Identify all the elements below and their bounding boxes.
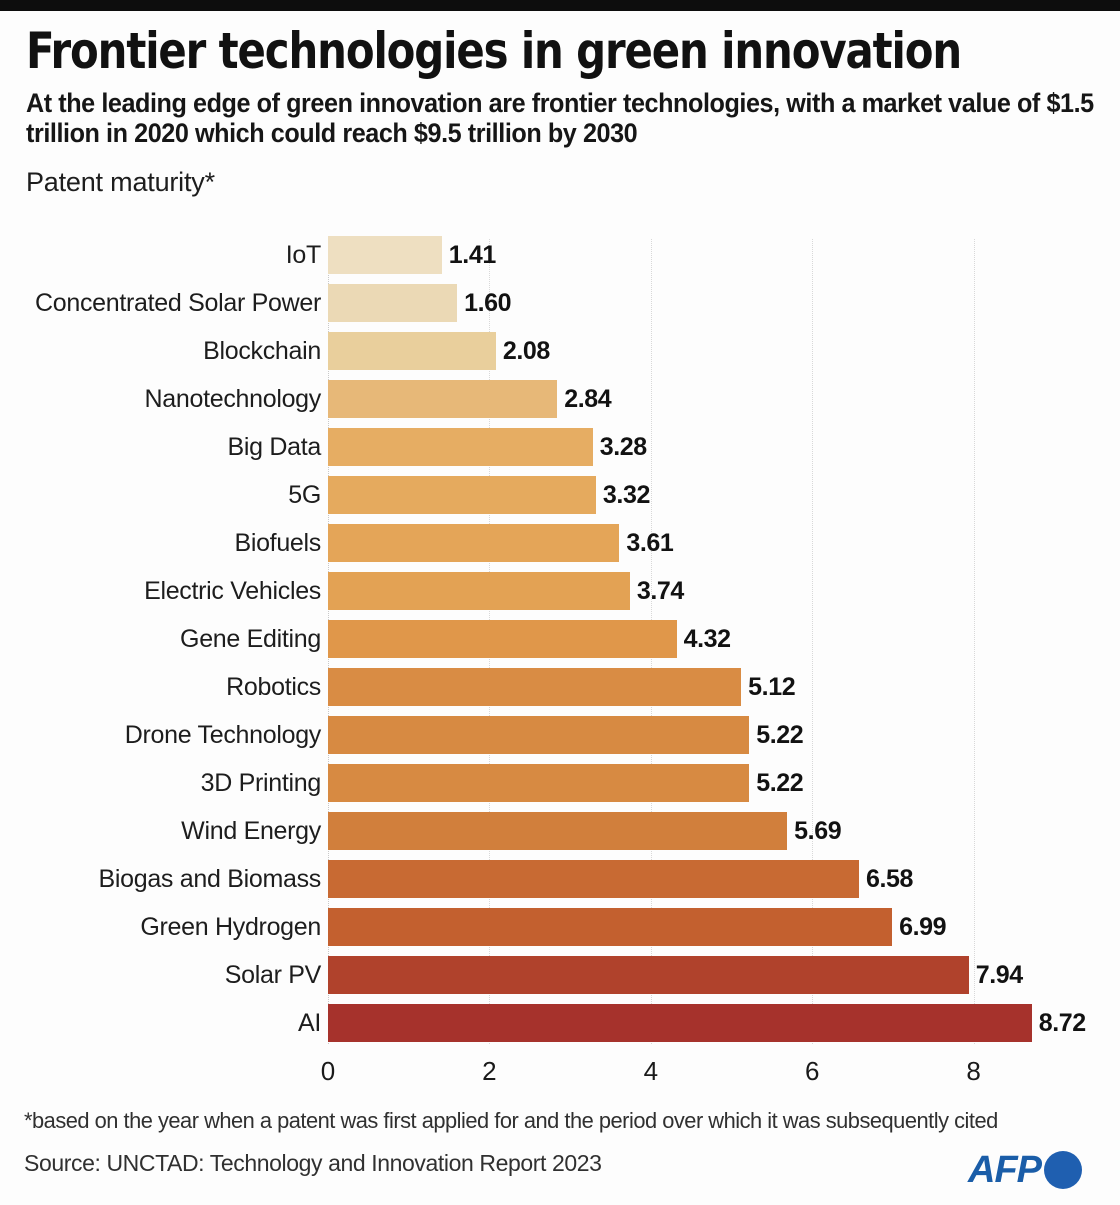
bar-value-label: 3.28 <box>600 428 647 466</box>
afp-logo: AFP <box>968 1148 1082 1192</box>
bar-value-label: 2.84 <box>564 380 611 418</box>
bar-row: 5G3.32 <box>0 476 1120 524</box>
bar-row: AI8.72 <box>0 1004 1120 1052</box>
bar-row: IoT1.41 <box>0 236 1120 284</box>
bar-row: Robotics5.12 <box>0 668 1120 716</box>
bar <box>328 428 593 466</box>
header: Frontier technologies in green innovatio… <box>26 22 1100 197</box>
bar-value-label: 2.08 <box>503 332 550 370</box>
bar-row: Biogas and Biomass6.58 <box>0 860 1120 908</box>
bar-row: 3D Printing5.22 <box>0 764 1120 812</box>
bar <box>328 764 749 802</box>
afp-logo-text: AFP <box>968 1151 1041 1189</box>
x-axis-tick-label: 6 <box>782 1056 842 1087</box>
bar <box>328 620 677 658</box>
page-subtitle: At the leading edge of green innovation … <box>26 88 1098 148</box>
bar-category-label: Biogas and Biomass <box>98 860 328 898</box>
bar-row: Electric Vehicles3.74 <box>0 572 1120 620</box>
bar-category-label: 3D Printing <box>201 764 328 802</box>
chart-axis-title: Patent maturity* <box>26 167 1100 197</box>
bar-category-label: Wind Energy <box>181 812 328 850</box>
bar-value-label: 3.74 <box>637 572 684 610</box>
page-title: Frontier technologies in green innovatio… <box>26 22 1025 80</box>
bar-value-label: 5.22 <box>756 764 803 802</box>
bar-value-label: 1.41 <box>449 236 496 274</box>
infographic-root: Frontier technologies in green innovatio… <box>0 0 1120 1205</box>
bar-category-label: Big Data <box>228 428 329 466</box>
bar-category-label: Biofuels <box>234 524 328 562</box>
bar <box>328 332 496 370</box>
bar <box>328 956 969 994</box>
bar-category-label: Concentrated Solar Power <box>35 284 328 322</box>
bar <box>328 1004 1032 1042</box>
footer: *based on the year when a patent was fir… <box>24 1108 1104 1177</box>
x-axis-tick-label: 4 <box>621 1056 681 1087</box>
bar <box>328 284 457 322</box>
bar <box>328 236 442 274</box>
bar-row: Biofuels3.61 <box>0 524 1120 572</box>
bar-category-label: AI <box>298 1004 328 1042</box>
bar-category-label: Electric Vehicles <box>144 572 328 610</box>
bar-value-label: 3.32 <box>603 476 650 514</box>
bar-rows: IoT1.41Concentrated Solar Power1.60Block… <box>0 236 1120 1052</box>
bar-category-label: Nanotechnology <box>145 380 329 418</box>
bar-row: Solar PV7.94 <box>0 956 1120 1004</box>
bar-row: Green Hydrogen6.99 <box>0 908 1120 956</box>
bar-category-label: Robotics <box>226 668 328 706</box>
bar <box>328 380 557 418</box>
x-axis-tick-label: 0 <box>298 1056 358 1087</box>
bar-category-label: Solar PV <box>225 956 328 994</box>
bar-chart-plot: IoT1.41Concentrated Solar Power1.60Block… <box>0 236 1120 1066</box>
bar-category-label: Blockchain <box>203 332 328 370</box>
top-rule-divider <box>0 0 1120 11</box>
bar <box>328 572 630 610</box>
bar-category-label: 5G <box>288 476 328 514</box>
bar-value-label: 4.32 <box>684 620 731 658</box>
bar-category-label: Drone Technology <box>125 716 328 754</box>
bar-value-label: 5.12 <box>748 668 795 706</box>
footnote-text: *based on the year when a patent was fir… <box>24 1108 1072 1134</box>
source-text: Source: UNCTAD: Technology and Innovatio… <box>24 1150 1104 1177</box>
afp-logo-dot-icon <box>1044 1151 1082 1189</box>
bar-value-label: 1.60 <box>464 284 511 322</box>
bar <box>328 476 596 514</box>
x-axis: 02468 <box>0 1056 1120 1096</box>
bar-category-label: IoT <box>286 236 328 274</box>
bar-value-label: 6.58 <box>866 860 913 898</box>
bar-value-label: 6.99 <box>899 908 946 946</box>
bar <box>328 860 859 898</box>
bar <box>328 908 892 946</box>
bar-value-label: 5.22 <box>756 716 803 754</box>
bar-row: Gene Editing4.32 <box>0 620 1120 668</box>
bar-row: Nanotechnology2.84 <box>0 380 1120 428</box>
x-axis-tick-label: 2 <box>459 1056 519 1087</box>
bar <box>328 812 787 850</box>
bar-value-label: 3.61 <box>626 524 673 562</box>
bar-value-label: 5.69 <box>794 812 841 850</box>
bar <box>328 524 619 562</box>
bar-value-label: 8.72 <box>1039 1004 1086 1042</box>
bar-row: Drone Technology5.22 <box>0 716 1120 764</box>
bar-row: Concentrated Solar Power1.60 <box>0 284 1120 332</box>
bar <box>328 668 741 706</box>
bar-value-label: 7.94 <box>976 956 1023 994</box>
bar-row: Wind Energy5.69 <box>0 812 1120 860</box>
bar-category-label: Gene Editing <box>180 620 328 658</box>
bar-row: Big Data3.28 <box>0 428 1120 476</box>
bar-row: Blockchain2.08 <box>0 332 1120 380</box>
x-axis-tick-label: 8 <box>944 1056 1004 1087</box>
bar <box>328 716 749 754</box>
bar-category-label: Green Hydrogen <box>140 908 328 946</box>
